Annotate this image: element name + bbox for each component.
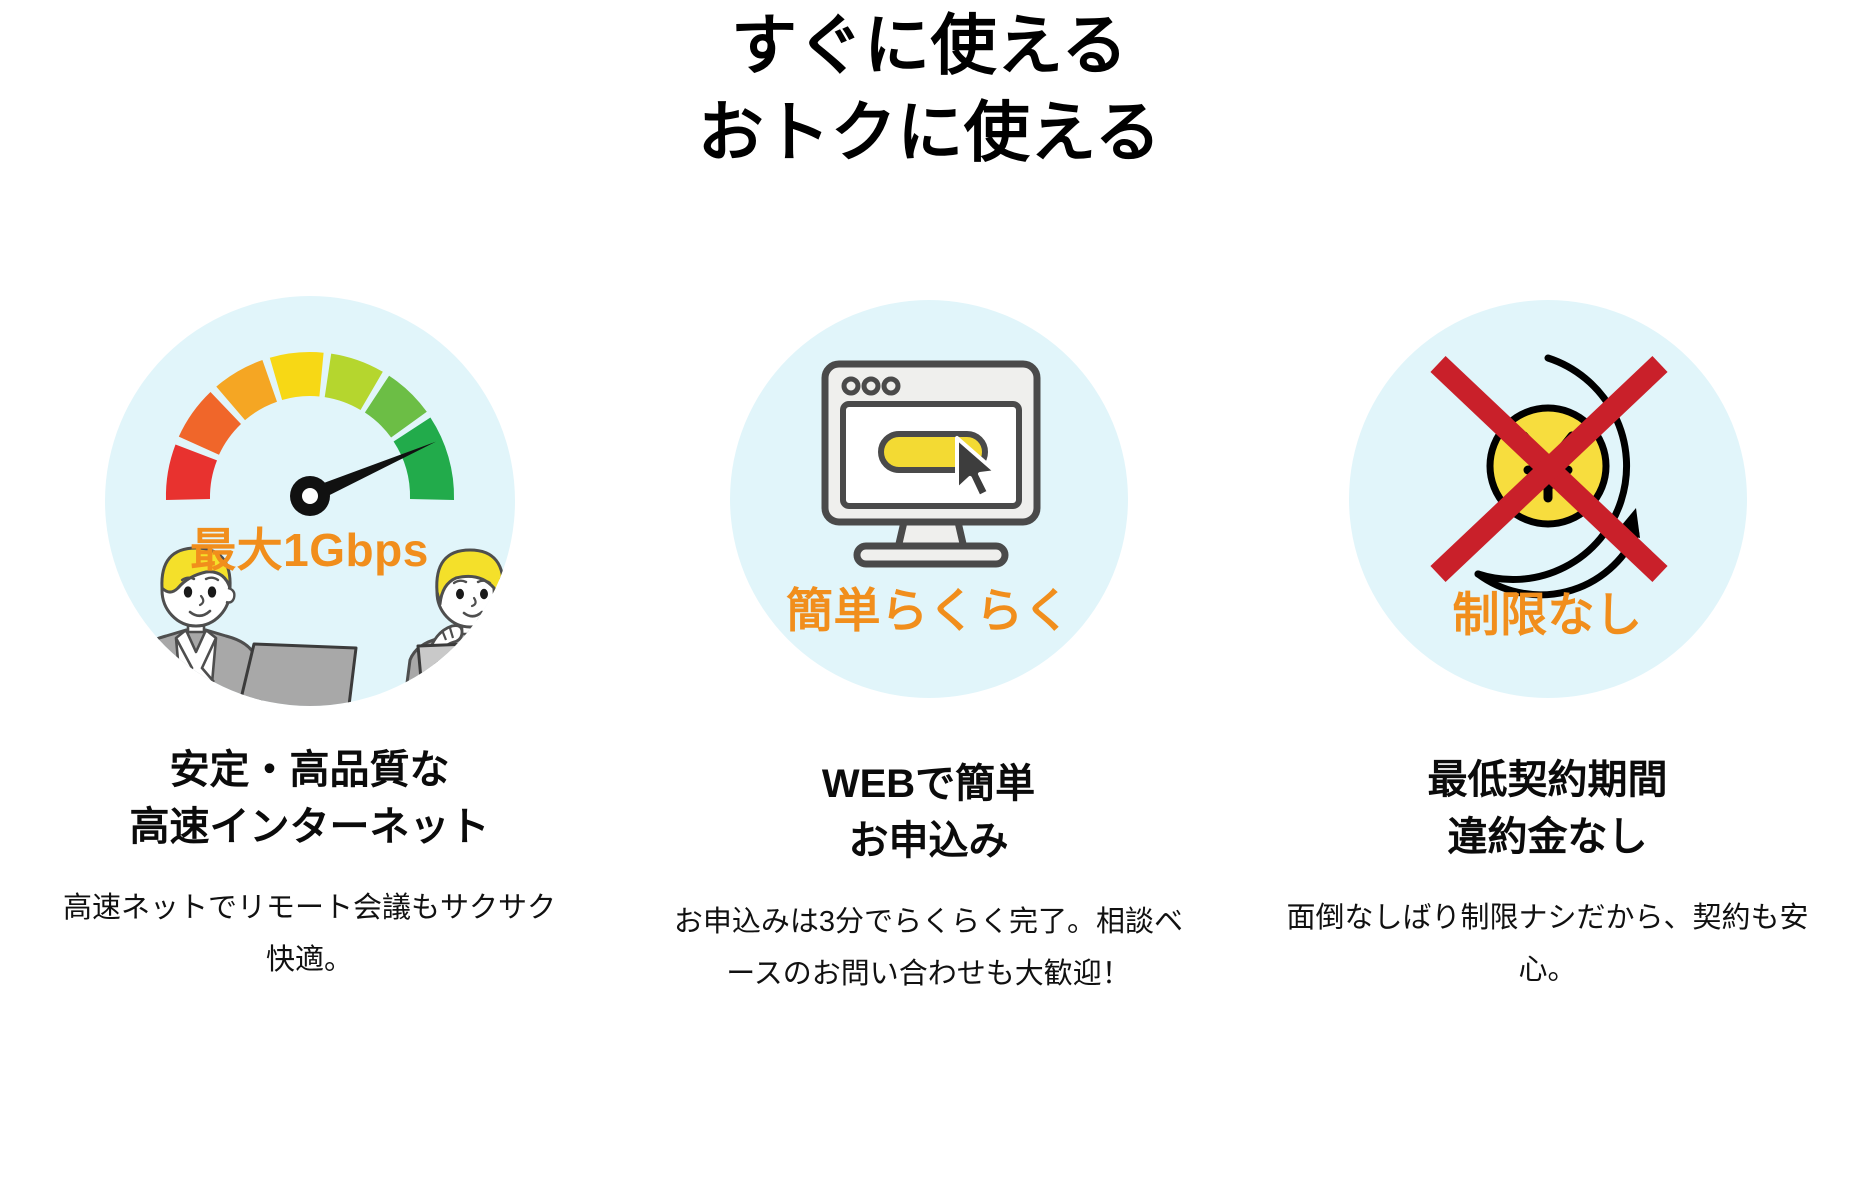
speed-art: 最大1Gbps <box>80 286 540 716</box>
feature-card-no-limit: 制限なし 最低契約期間 違約金なし 面倒なしばり制限ナシだから、契約も安心。 <box>1238 286 1857 997</box>
headline-line-1: すぐに使える <box>0 2 1859 89</box>
feature-card-speed: 最大1Gbps 安定・高品質な 高速インターネット 高速ネットでリモート会議もサ… <box>0 286 619 987</box>
card-description-no-limit: 面倒なしばり制限ナシだから、契約も安心。 <box>1278 892 1818 998</box>
feature-cards: 最大1Gbps 安定・高品質な 高速インターネット 高速ネットでリモート会議もサ… <box>0 286 1859 1001</box>
card-heading-web-apply: WEBで簡単 お申込み <box>822 756 1035 870</box>
promo-page: すぐに使える おトクに使える <box>0 0 1859 1184</box>
headline-line-2: おトクに使える <box>0 89 1859 176</box>
heading-line-2: お申込み <box>822 813 1035 870</box>
web-apply-art: 簡単らくらく <box>699 286 1159 716</box>
card-description-web-apply: お申込みは3分でらくらく完了。相談ベースのお問い合わせも大歓迎！ <box>664 896 1194 1002</box>
speed-caption: 最大1Gbps <box>80 514 540 580</box>
speedometer-gauge-icon <box>80 286 540 716</box>
heading-line-1: 最低契約期間 <box>1428 752 1668 809</box>
no-limit-caption: 制限なし <box>1318 576 1778 645</box>
monitor-browser-click-icon <box>699 286 1159 716</box>
heading-line-2: 違約金なし <box>1428 809 1668 866</box>
heading-line-1: WEBで簡単 <box>822 756 1035 813</box>
heading-line-2: 高速インターネット <box>130 799 490 856</box>
heading-line-1: 安定・高品質な <box>130 742 490 799</box>
card-description-speed: 高速ネットでリモート会議もサクサク快適。 <box>55 882 565 988</box>
no-limit-art: 制限なし <box>1318 286 1778 716</box>
card-heading-no-limit: 最低契約期間 違約金なし <box>1428 752 1668 866</box>
no-cancellation-fee-icon <box>1318 286 1778 716</box>
card-heading-speed: 安定・高品質な 高速インターネット <box>130 742 490 856</box>
page-title: すぐに使える おトクに使える <box>0 2 1859 176</box>
web-apply-caption: 簡単らくらく <box>699 572 1159 641</box>
feature-card-web-apply: 簡単らくらく WEBで簡単 お申込み お申込みは3分でらくらく完了。相談ベースの… <box>619 286 1238 1001</box>
